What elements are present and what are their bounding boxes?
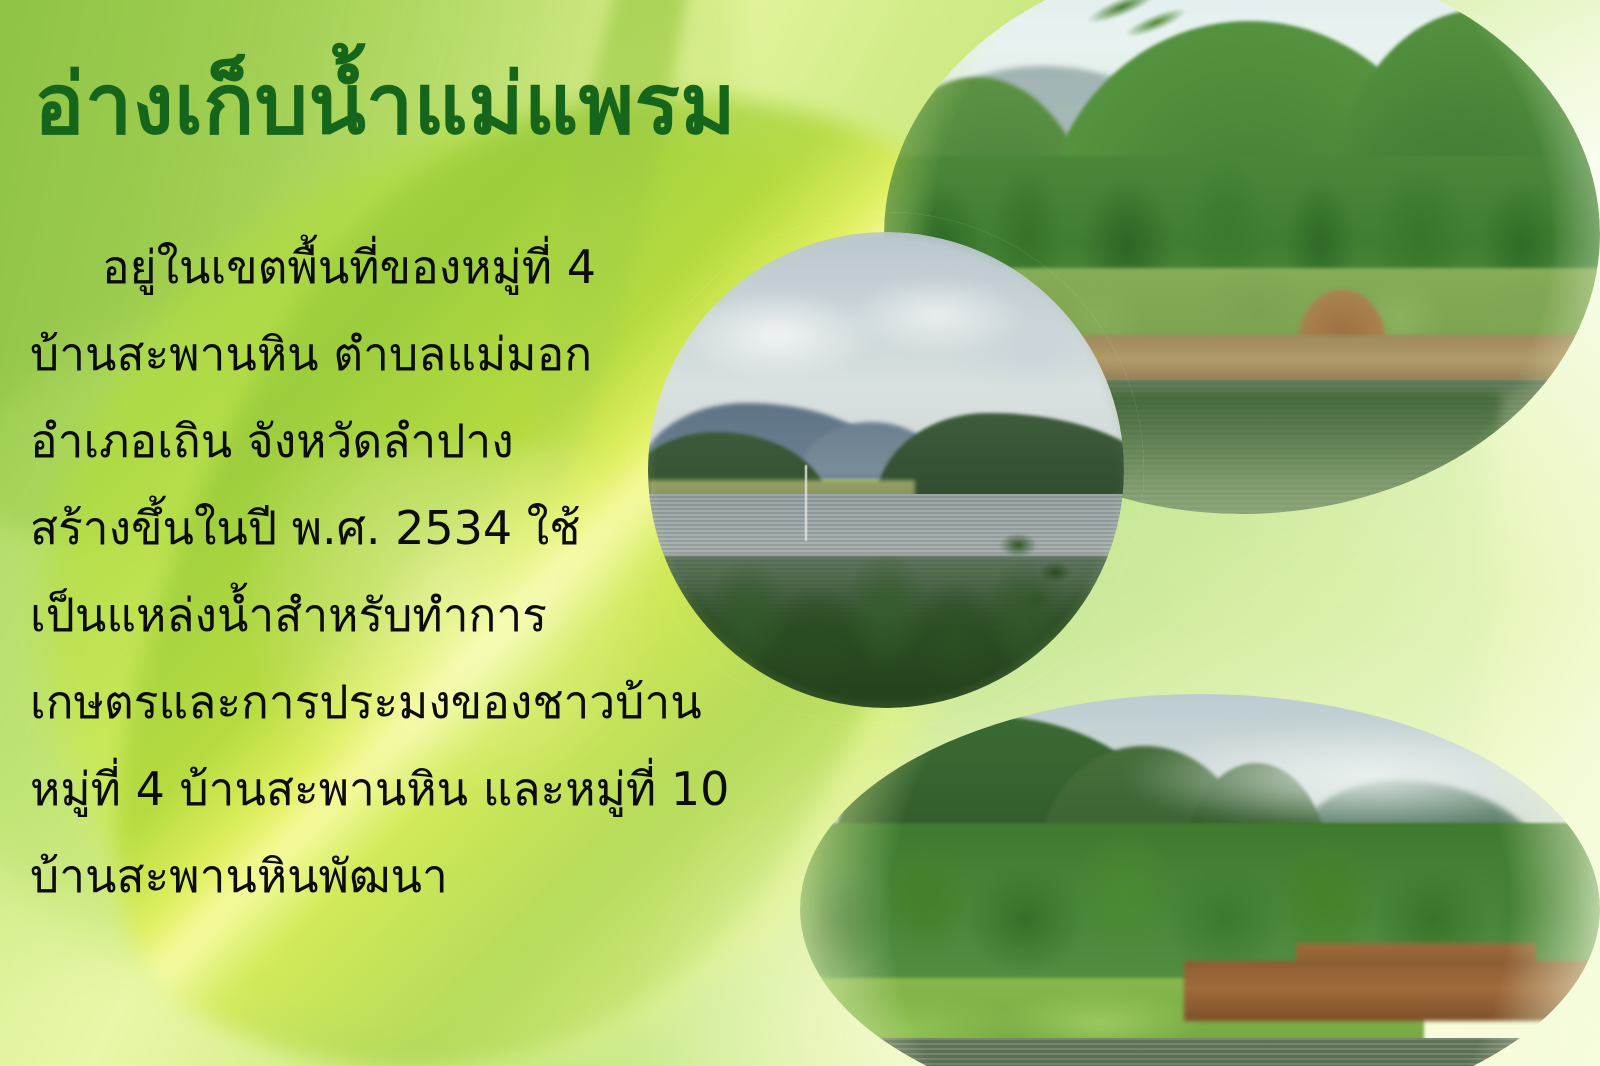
photo-scene xyxy=(800,694,1600,1066)
body-line-6: เกษตรและการประมงของชาวบ้าน xyxy=(30,659,850,746)
page-title: อ่างเก็บน้ำแม่แพรม xyxy=(34,62,736,146)
photo-reservoir-misty-mountains xyxy=(800,694,1600,1066)
reservoir-water xyxy=(800,1038,1600,1066)
body-line-1: อยู่ในเขตพื้นที่ของหมู่ที่ 4 xyxy=(30,224,850,311)
body-line-7: หมู่ที่ 4 บ้านสะพานหิน และหมู่ที่ 10 xyxy=(30,746,850,833)
presentation-slide: อ่างเก็บน้ำแม่แพรม อยู่ในเขตพื้นที่ของหม… xyxy=(0,0,1600,1066)
body-line-2: บ้านสะพานหิน ตำบลแม่มอก xyxy=(30,311,850,398)
mist-cloud xyxy=(1120,720,1600,832)
body-paragraph: อยู่ในเขตพื้นที่ของหมู่ที่ 4 บ้านสะพานหิ… xyxy=(30,224,850,920)
body-line-5: เป็นแหล่งน้ำสำหรับทำการ xyxy=(30,572,850,659)
body-line-3: อำเภอเถิน จังหวัดลำปาง xyxy=(30,398,850,485)
eroded-bank xyxy=(1184,961,1600,1021)
body-line-8: บ้านสะพานหินพัฒนา xyxy=(30,833,850,920)
body-line-4: สร้างขึ้นในปี พ.ศ. 2534 ใช้ xyxy=(30,485,850,572)
